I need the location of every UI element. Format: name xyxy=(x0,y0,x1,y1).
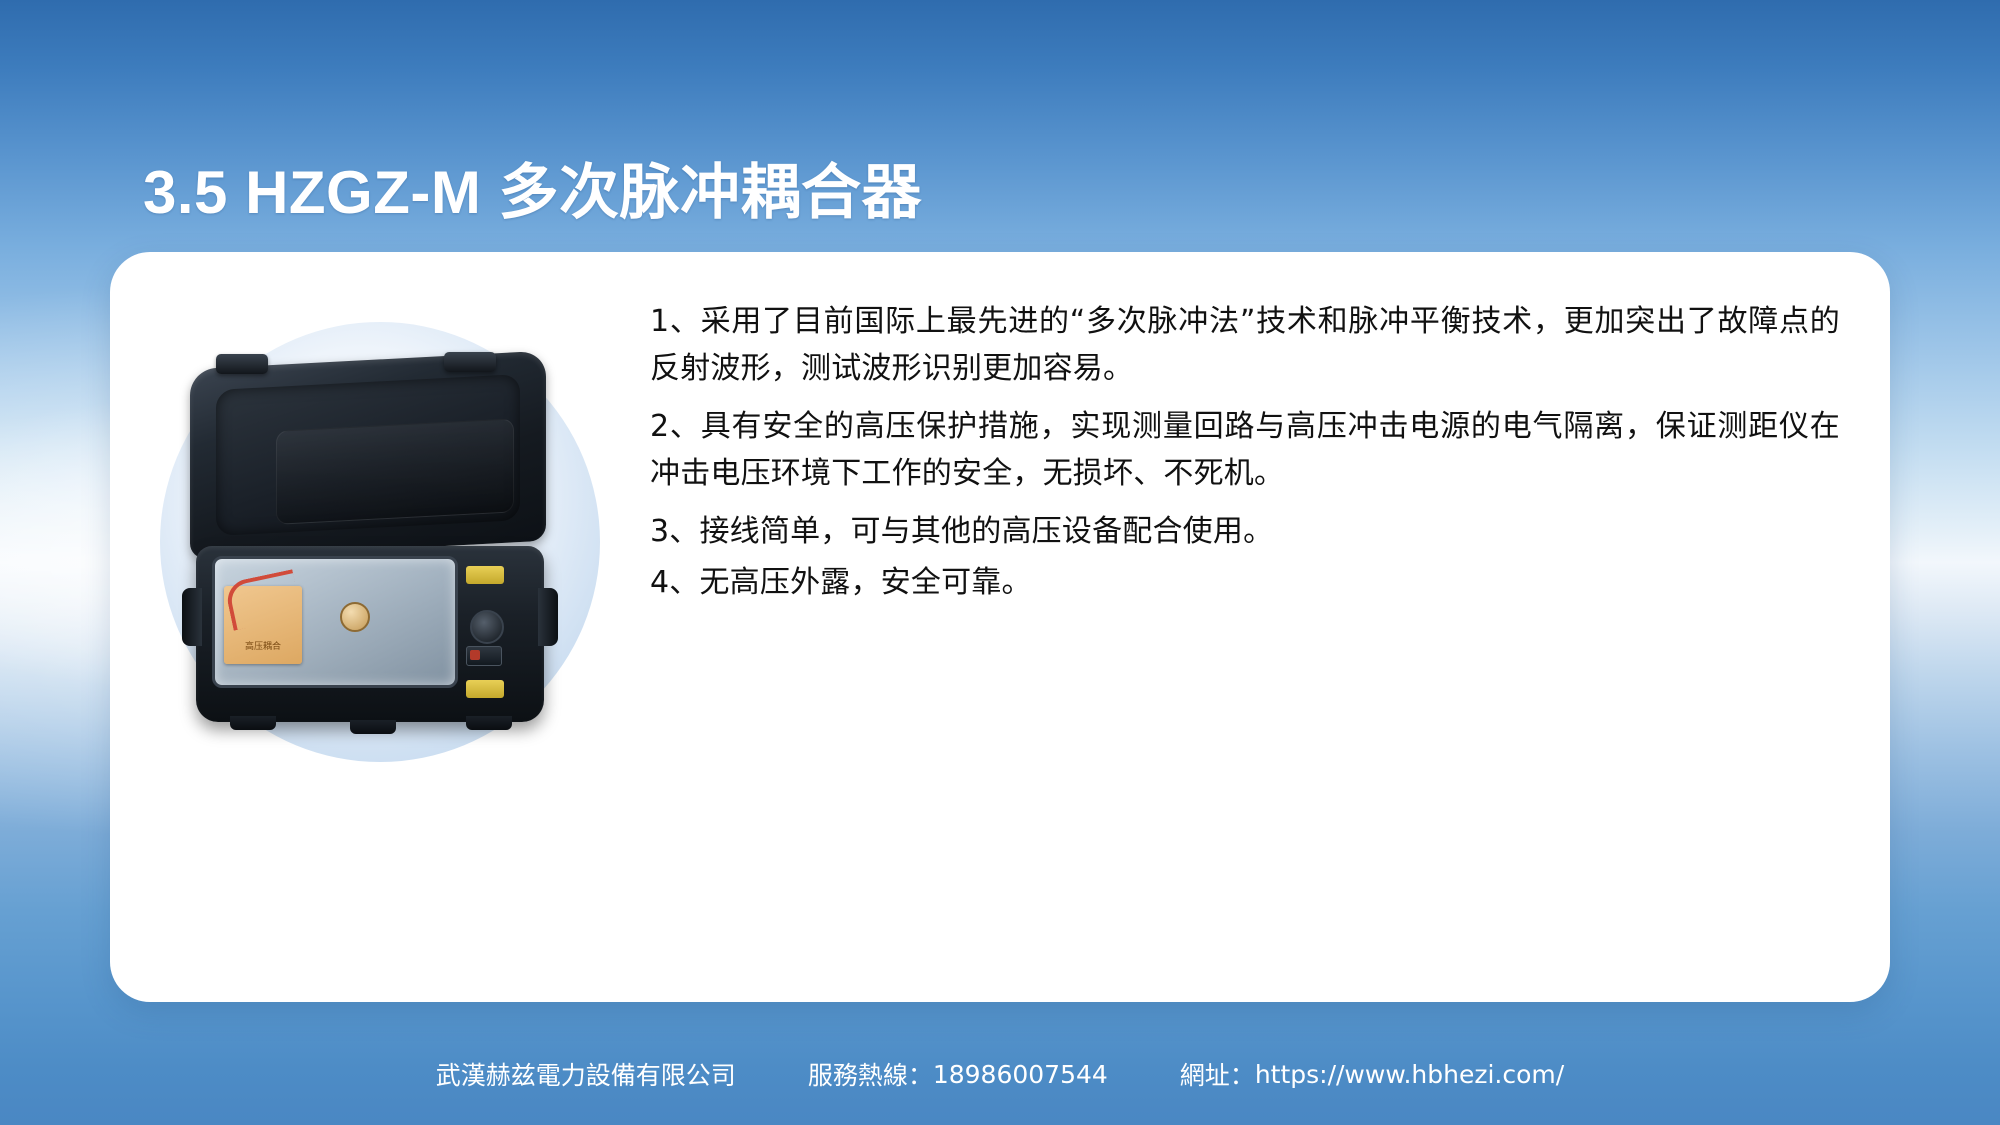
dial-knob-icon xyxy=(340,602,370,632)
footer-hotline-number: 18986007544 xyxy=(933,1060,1108,1089)
case-lid-inner xyxy=(216,374,520,536)
feature-item-2: 2、具有安全的高压保护措施，实现测量回路与高压冲击电源的电气隔离，保证测距仪在冲… xyxy=(650,403,1840,498)
page-title: 3.5 HZGZ-M 多次脉冲耦合器 xyxy=(143,144,922,231)
footer-hotline: 服務熱線：18986007544 xyxy=(808,1056,1108,1092)
footer-website-label: 網址： xyxy=(1180,1056,1255,1092)
footer-company: 武漢赫兹電力設備有限公司 xyxy=(436,1056,736,1092)
connector-socket-icon xyxy=(470,610,504,644)
feature-list: 1、采用了目前国际上最先进的“多次脉冲法”技术和脉冲平衡技术，更加突出了故障点的… xyxy=(650,298,1840,610)
footer-hotline-label: 服務熱線： xyxy=(808,1056,933,1092)
case-hinge-left-icon xyxy=(216,354,268,374)
case-label-text: 高压耦合 xyxy=(230,642,296,652)
case-foot-2 xyxy=(350,720,396,734)
footer: 武漢赫兹電力設備有限公司 服務熱線：18986007544 網址：https:/… xyxy=(0,1048,2000,1100)
case-handle-right-icon xyxy=(538,588,558,646)
yellow-latch-top-icon xyxy=(466,566,504,584)
case-foot-3 xyxy=(466,716,512,730)
feature-item-1: 1、采用了目前国际上最先进的“多次脉冲法”技术和脉冲平衡技术，更加突出了故障点的… xyxy=(650,298,1840,393)
content-card: 高压耦合 1、采用了目前国际上最先进的“多次脉冲法”技术和脉冲平衡技术，更加突出… xyxy=(110,252,1890,1002)
product-image: 高压耦合 xyxy=(150,282,630,842)
footer-website-link[interactable]: https://www.hbhezi.com/ xyxy=(1255,1060,1564,1089)
case-handle-left-icon xyxy=(182,588,202,646)
case-foot-1 xyxy=(230,716,276,730)
device-illustration: 高压耦合 xyxy=(178,350,568,780)
slide-root: 3.5 HZGZ-M 多次脉冲耦合器 高压耦合 xyxy=(0,0,2000,1125)
case-lid-rib xyxy=(276,418,514,524)
case-lid-icon xyxy=(190,351,546,560)
footer-website: 網址：https://www.hbhezi.com/ xyxy=(1180,1056,1564,1092)
feature-item-4: 4、无高压外露，安全可靠。 xyxy=(650,559,1840,606)
case-hinge-right-icon xyxy=(444,352,496,372)
power-led-icon xyxy=(470,650,480,660)
yellow-latch-bottom-icon xyxy=(466,680,504,698)
feature-item-3: 3、接线简单，可与其他的高压设备配合使用。 xyxy=(650,508,1840,555)
